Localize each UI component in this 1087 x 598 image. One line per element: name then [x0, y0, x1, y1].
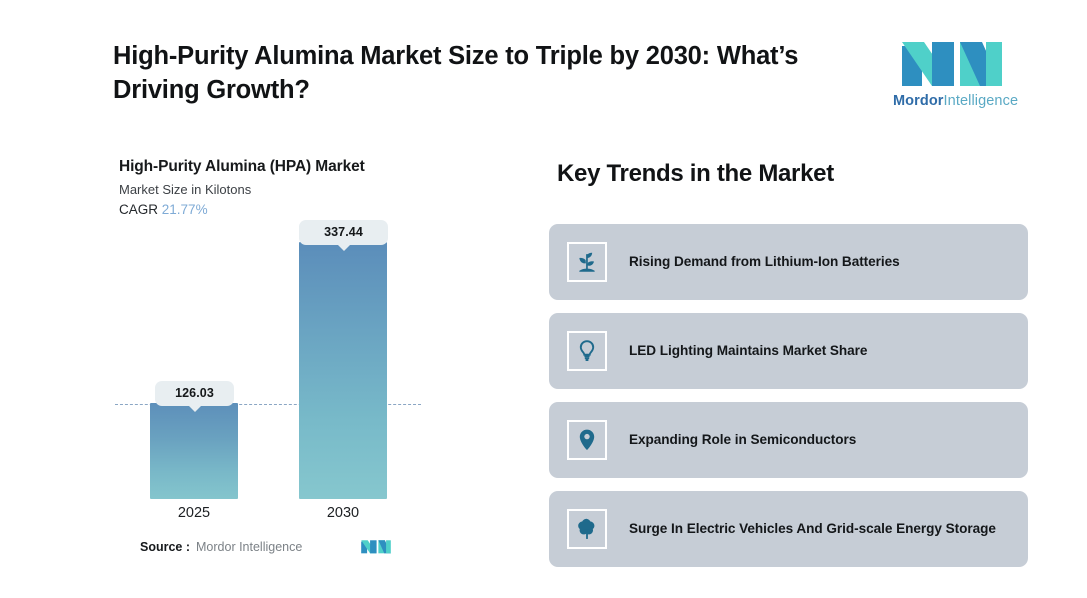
mordor-m-logo-icon	[898, 36, 1006, 90]
trend-card-4[interactable]: Surge In Electric Vehicles And Grid-scal…	[549, 491, 1028, 567]
source-value: Mordor Intelligence	[196, 540, 302, 554]
seedling-icon	[567, 242, 607, 282]
brand-name-secondary: Intelligence	[944, 93, 1019, 109]
map-pin-icon	[567, 420, 607, 460]
source-logo-icon	[360, 538, 392, 555]
chart-panel: High-Purity Alumina (HPA) Market Market …	[0, 0, 500, 598]
brand-wordmark: MordorIntelligence	[893, 93, 1011, 109]
brand-logo: MordorIntelligence	[893, 36, 1011, 114]
x-axis-label-2030: 2030	[299, 505, 387, 521]
x-axis-label-2025: 2025	[150, 505, 238, 521]
trends-card-list: Rising Demand from Lithium-Ion Batteries…	[549, 224, 1028, 580]
trends-title: Key Trends in the Market	[557, 160, 834, 188]
trend-card-label-4: Surge In Electric Vehicles And Grid-scal…	[629, 519, 996, 538]
source-row: Source : Mordor Intelligence	[140, 540, 302, 554]
bar-2025	[150, 403, 238, 499]
lightbulb-icon	[567, 331, 607, 371]
source-label: Source :	[140, 540, 190, 554]
bar-chart-plot: 126.03 337.44 2025 2030	[0, 0, 500, 598]
bar-2030	[299, 242, 387, 499]
trend-card-2[interactable]: LED Lighting Maintains Market Share	[549, 313, 1028, 389]
trend-card-label-1: Rising Demand from Lithium-Ion Batteries	[629, 252, 900, 271]
infographic-page: High-Purity Alumina Market Size to Tripl…	[0, 0, 1087, 598]
bar-value-label-2025: 126.03	[155, 381, 234, 406]
trend-card-label-2: LED Lighting Maintains Market Share	[629, 341, 867, 360]
trend-card-1[interactable]: Rising Demand from Lithium-Ion Batteries	[549, 224, 1028, 300]
brand-name-primary: Mordor	[893, 93, 944, 109]
trend-card-label-3: Expanding Role in Semiconductors	[629, 430, 856, 449]
tree-icon	[567, 509, 607, 549]
bar-value-label-2030: 337.44	[299, 220, 388, 245]
trend-card-3[interactable]: Expanding Role in Semiconductors	[549, 402, 1028, 478]
